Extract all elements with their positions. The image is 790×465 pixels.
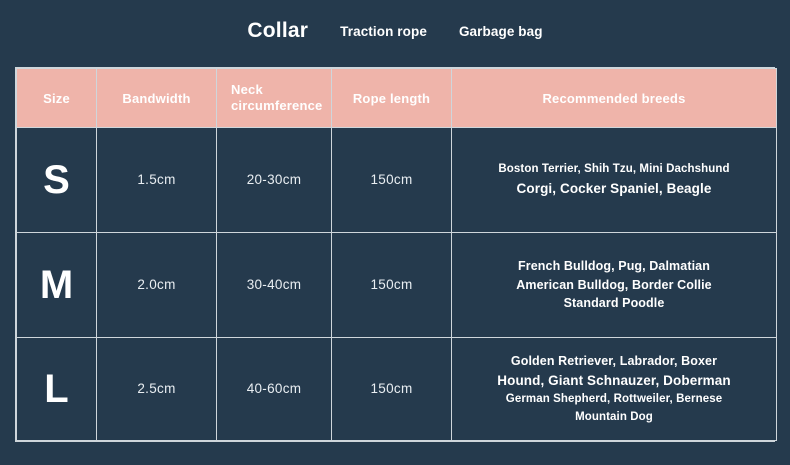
breed-line: Golden Retriever, Labrador, Boxer xyxy=(452,352,776,371)
column-header-recommended-breeds: Recommended breeds xyxy=(452,69,777,128)
cell-bandwidth: 2.5cm xyxy=(97,338,217,441)
rope-length-value: 150cm xyxy=(370,277,412,292)
product-title-garbage-bag[interactable]: Garbage bag xyxy=(459,24,543,39)
cell-recommended-breeds: French Bulldog, Pug, Dalmatian American … xyxy=(452,233,777,338)
product-title-bar: Collar Traction rope Garbage bag xyxy=(0,0,790,62)
spec-table-header: Size Bandwidth Neck circumference Rope l… xyxy=(17,69,777,128)
spec-table: Size Bandwidth Neck circumference Rope l… xyxy=(16,68,777,441)
column-header-rope-length-label: Rope length xyxy=(332,91,451,106)
cell-size: L xyxy=(17,338,97,441)
size-letter: S xyxy=(43,158,70,202)
bandwidth-value: 2.5cm xyxy=(137,381,175,396)
cell-rope-length: 150cm xyxy=(332,233,452,338)
breed-line: Hound, Giant Schnauzer, Doberman xyxy=(452,371,776,391)
spec-table-body: S 1.5cm 20-30cm 150cm Boston Terrier, Sh… xyxy=(17,128,777,441)
column-header-size-label: Size xyxy=(17,91,96,106)
cell-recommended-breeds: Boston Terrier, Shih Tzu, Mini Dachshund… xyxy=(452,128,777,233)
table-row: M 2.0cm 30-40cm 150cm French Bulldog, Pu… xyxy=(17,233,777,338)
breed-line: Mountain Dog xyxy=(452,409,776,426)
cell-size: M xyxy=(17,233,97,338)
cell-neck-circumference: 30-40cm xyxy=(217,233,332,338)
cell-recommended-breeds: Golden Retriever, Labrador, Boxer Hound,… xyxy=(452,338,777,441)
column-header-bandwidth-label: Bandwidth xyxy=(97,91,216,106)
column-header-neck-circumference-label: Neck circumference xyxy=(217,82,331,115)
spec-table-container: Size Bandwidth Neck circumference Rope l… xyxy=(15,67,775,442)
cell-rope-length: 150cm xyxy=(332,338,452,441)
cell-neck-circumference: 20-30cm xyxy=(217,128,332,233)
header-row: Size Bandwidth Neck circumference Rope l… xyxy=(17,69,777,128)
cell-bandwidth: 1.5cm xyxy=(97,128,217,233)
cell-bandwidth: 2.0cm xyxy=(97,233,217,338)
cell-neck-circumference: 40-60cm xyxy=(217,338,332,441)
column-header-bandwidth: Bandwidth xyxy=(97,69,217,128)
breed-line: French Bulldog, Pug, Dalmatian xyxy=(452,257,776,276)
breed-line: German Shepherd, Rottweiler, Bernese xyxy=(452,391,776,408)
neck-circumference-value: 30-40cm xyxy=(247,277,302,292)
neck-circumference-value: 40-60cm xyxy=(247,381,302,396)
size-letter: L xyxy=(44,367,68,411)
cell-rope-length: 150cm xyxy=(332,128,452,233)
product-title-traction-rope[interactable]: Traction rope xyxy=(340,24,427,39)
rope-length-value: 150cm xyxy=(370,381,412,396)
breed-line: Boston Terrier, Shih Tzu, Mini Dachshund xyxy=(452,161,776,178)
column-header-size: Size xyxy=(17,69,97,128)
table-row: L 2.5cm 40-60cm 150cm Golden Retriever, … xyxy=(17,338,777,441)
breed-line: Standard Poodle xyxy=(452,294,776,313)
bandwidth-value: 2.0cm xyxy=(137,277,175,292)
product-spec-page: Collar Traction rope Garbage bag Size Ba… xyxy=(0,0,790,465)
bandwidth-value: 1.5cm xyxy=(137,172,175,187)
column-header-neck-circumference: Neck circumference xyxy=(217,69,332,128)
column-header-rope-length: Rope length xyxy=(332,69,452,128)
neck-circumference-value: 20-30cm xyxy=(247,172,302,187)
breed-line: American Bulldog, Border Collie xyxy=(452,276,776,295)
cell-size: S xyxy=(17,128,97,233)
column-header-recommended-breeds-label: Recommended breeds xyxy=(452,91,776,106)
rope-length-value: 150cm xyxy=(370,172,412,187)
product-title-collar[interactable]: Collar xyxy=(247,19,308,43)
table-row: S 1.5cm 20-30cm 150cm Boston Terrier, Sh… xyxy=(17,128,777,233)
breed-line: Corgi, Cocker Spaniel, Beagle xyxy=(452,179,776,199)
size-letter: M xyxy=(40,263,73,307)
